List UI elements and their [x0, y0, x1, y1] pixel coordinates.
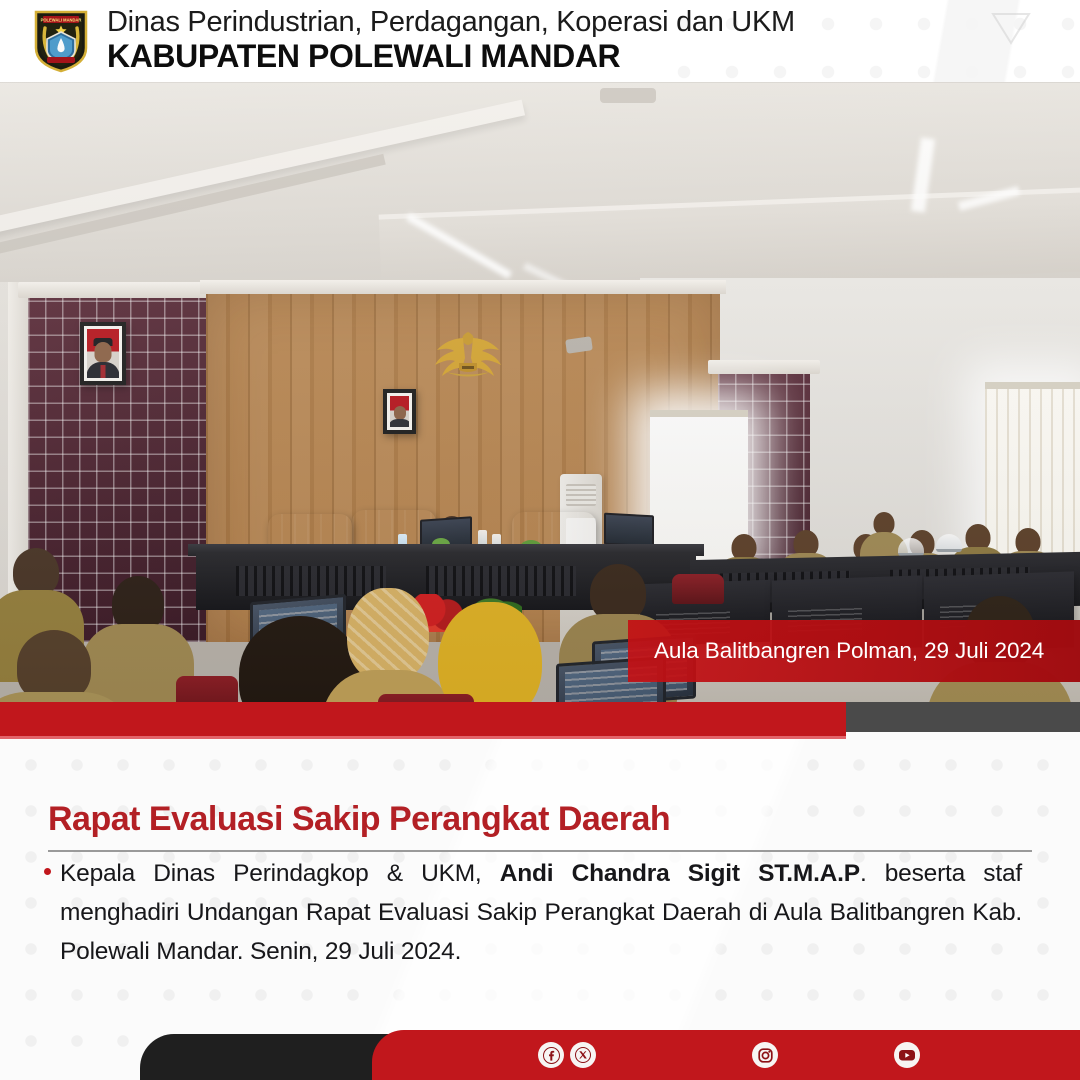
red-divider-bar — [0, 702, 1080, 738]
page-footer: BerAKHLAK Berorientasi Pelayanan Akuntab… — [0, 1000, 1080, 1080]
laptop — [604, 513, 654, 548]
ceiling-vent — [600, 88, 656, 103]
divider-accent-line — [0, 736, 846, 739]
content-section: Rapat Evaluasi Sakip Perangkat Daerah Ke… — [0, 738, 1080, 1000]
garuda-pancasila-emblem-icon — [432, 322, 504, 384]
svg-text:POLEWALI MANDAR: POLEWALI MANDAR — [41, 18, 82, 23]
chair — [672, 574, 724, 604]
body-text-date: Senin, 29 Juli 2024. — [250, 938, 461, 965]
bullet-point-icon — [44, 868, 51, 875]
person-name-highlight: Andi Chandra Sigit ST.M.A.P — [500, 860, 860, 887]
chair — [176, 676, 238, 702]
photo-caption-text: Aula Balitbangren Polman, 29 Juli 2024 — [628, 638, 1044, 664]
wooden-panel-trim — [200, 280, 726, 294]
polewali-mandar-crest-icon: POLEWALI MANDAR — [32, 8, 90, 74]
chair — [378, 694, 474, 702]
presidential-portrait-frame — [80, 322, 126, 385]
header-line-1: Dinas Perindustrian, Perdagangan, Kopera… — [107, 7, 795, 38]
x-twitter-icon[interactable] — [570, 1042, 596, 1068]
event-photo — [0, 82, 1080, 702]
divider-red-segment — [0, 702, 846, 738]
title-underline — [48, 850, 1032, 852]
divider-gray-segment — [846, 702, 1080, 732]
vice-presidential-portrait-frame — [383, 389, 416, 434]
header-titles: Dinas Perindustrian, Perdagangan, Kopera… — [107, 7, 795, 76]
social-links — [372, 1030, 1080, 1080]
window-left — [650, 410, 748, 560]
page-header: POLEWALI MANDAR Dinas Perindustrian, Per… — [0, 0, 1080, 82]
header-line-2: KABUPATEN POLEWALI MANDAR — [107, 39, 795, 75]
youtube-icon[interactable] — [894, 1042, 920, 1068]
body-paragraph: Kepala Dinas Perindagkop & UKM, Andi Cha… — [60, 854, 1022, 971]
meeting-room-scene — [0, 82, 1080, 702]
header-diagonal-band — [820, 0, 1080, 82]
cornice-left — [18, 282, 216, 298]
body-text-part1: Kepala Dinas Perindagkop & UKM, — [60, 860, 500, 887]
photo-caption-bar: Aula Balitbangren Polman, 29 Juli 2024 — [628, 620, 1080, 682]
facebook-icon[interactable] — [538, 1042, 564, 1068]
page-title: Rapat Evaluasi Sakip Perangkat Daerah — [48, 800, 670, 839]
instagram-icon[interactable] — [752, 1042, 778, 1068]
triangle-down-icon — [990, 10, 1032, 51]
poster-canvas: POLEWALI MANDAR Dinas Perindustrian, Per… — [0, 0, 1080, 1080]
cornice-right — [708, 360, 820, 374]
